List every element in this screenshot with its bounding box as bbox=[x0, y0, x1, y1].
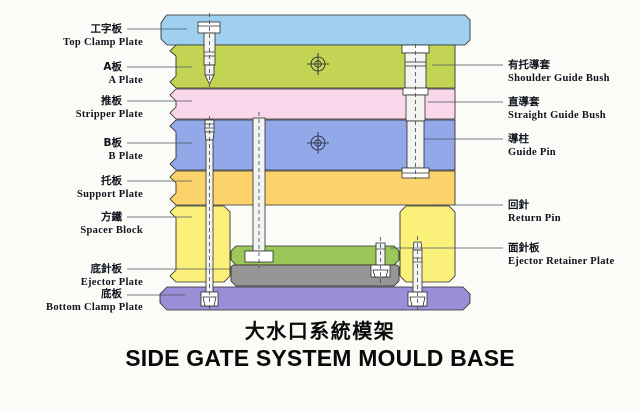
label-cn: 直導套 bbox=[508, 95, 540, 108]
label-cn: B板 bbox=[103, 136, 122, 149]
label-en: Shoulder Guide Bush bbox=[508, 73, 610, 84]
label-en: Straight Guide Bush bbox=[508, 110, 606, 121]
label-en: A Plate bbox=[109, 75, 144, 86]
label-en: Spacer Block bbox=[80, 225, 143, 236]
title-english: SIDE GATE SYSTEM MOULD BASE bbox=[125, 345, 515, 371]
label-cn: 底板 bbox=[101, 287, 122, 300]
mould-base-diagram: 工字板 Top Clamp Plate A板 A Plate 推板 Stripp… bbox=[0, 0, 640, 410]
label-en: Ejector Retainer Plate bbox=[508, 256, 615, 267]
label-en: Support Plate bbox=[77, 189, 143, 200]
label-cn: 導柱 bbox=[508, 132, 529, 145]
label-cn: 回針 bbox=[508, 198, 529, 211]
label-cn: 底針板 bbox=[91, 262, 123, 275]
label-cn: 托板 bbox=[101, 174, 122, 187]
label-cn: 方鐵 bbox=[101, 210, 122, 223]
label-en: Stripper Plate bbox=[76, 109, 143, 120]
plate-spacer-block-right bbox=[400, 206, 455, 282]
label-en: Ejector Plate bbox=[81, 277, 143, 288]
mould-assembly bbox=[160, 13, 470, 312]
title-chinese: 大水口系統模架 bbox=[245, 319, 396, 343]
label-cn: 有托導套 bbox=[508, 58, 550, 71]
label-cn: 面針板 bbox=[508, 241, 540, 254]
label-en: B Plate bbox=[109, 151, 144, 162]
label-en: Top Clamp Plate bbox=[63, 37, 143, 48]
label-cn: A板 bbox=[103, 60, 122, 73]
label-en: Return Pin bbox=[508, 213, 561, 224]
label-en: Guide Pin bbox=[508, 147, 556, 158]
label-en: Bottom Clamp Plate bbox=[46, 302, 143, 313]
label-cn: 工字板 bbox=[91, 22, 123, 35]
label-cn: 推板 bbox=[101, 94, 122, 107]
